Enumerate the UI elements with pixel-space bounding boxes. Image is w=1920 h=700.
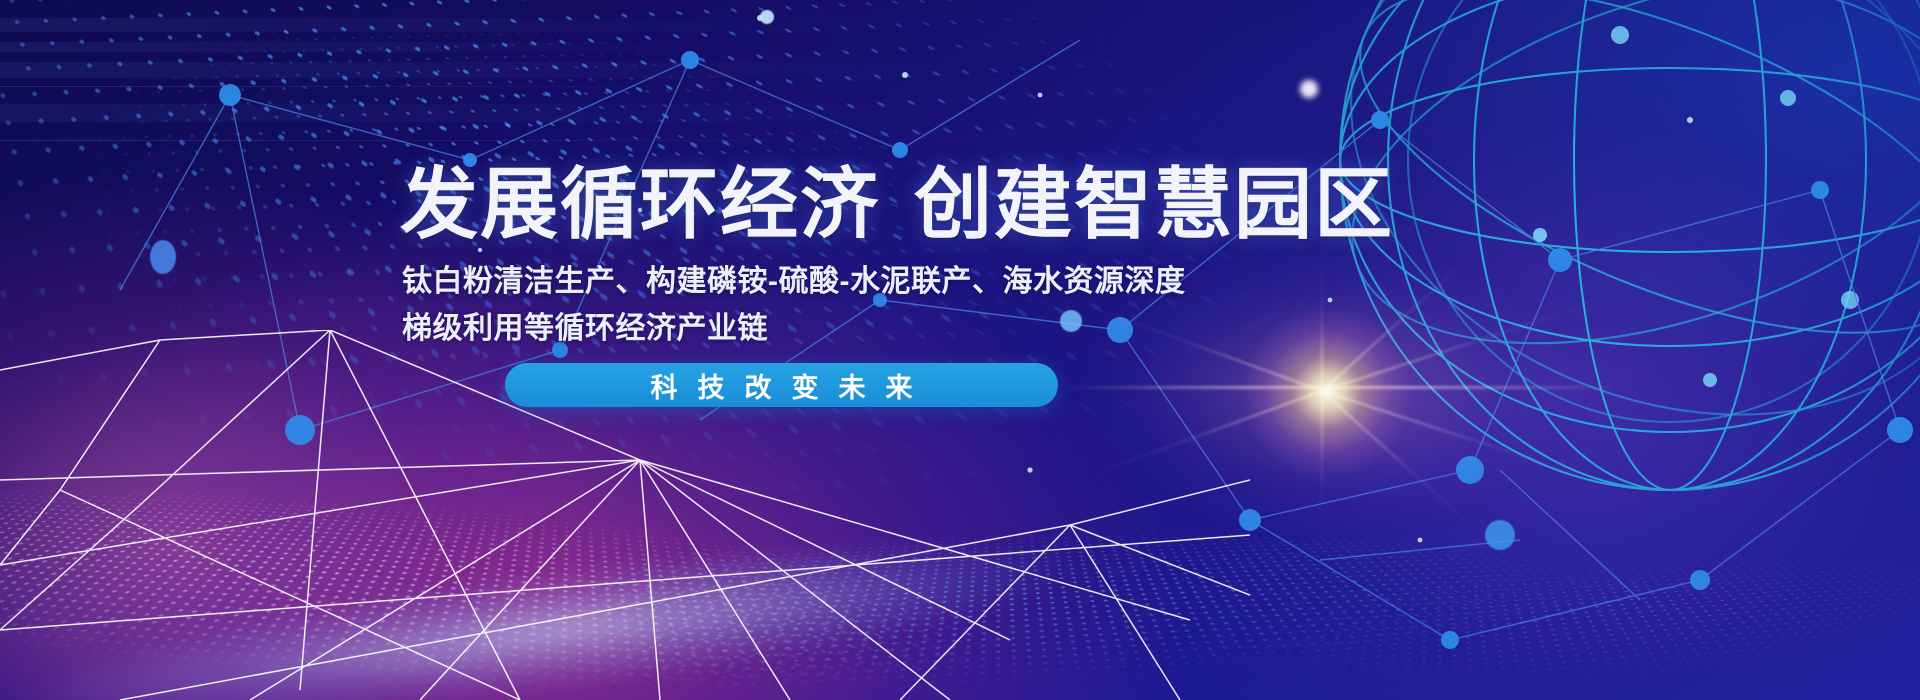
subtitle: 钛白粉清洁生产、构建磷铵-硫酸-水泥联产、海水资源深度 梯级利用等循环经济产业链 (402, 258, 1222, 352)
banner-content: 发展循环经济创建智慧园区 钛白粉清洁生产、构建磷铵-硫酸-水泥联产、海水资源深度… (0, 0, 1920, 700)
cta-button-label: 科技改变未来 (631, 366, 933, 405)
page-title: 发展循环经济创建智慧园区 (400, 165, 1394, 243)
subtitle-line-2: 梯级利用等循环经济产业链 (402, 305, 1222, 352)
headline-part-2: 创建智慧园区 (914, 160, 1394, 248)
headline-part-1: 发展循环经济 (400, 160, 880, 248)
hero-banner: 发展循环经济创建智慧园区 钛白粉清洁生产、构建磷铵-硫酸-水泥联产、海水资源深度… (0, 0, 1920, 700)
subtitle-line-1: 钛白粉清洁生产、构建磷铵-硫酸-水泥联产、海水资源深度 (402, 258, 1222, 305)
cta-button[interactable]: 科技改变未来 (505, 363, 1058, 407)
